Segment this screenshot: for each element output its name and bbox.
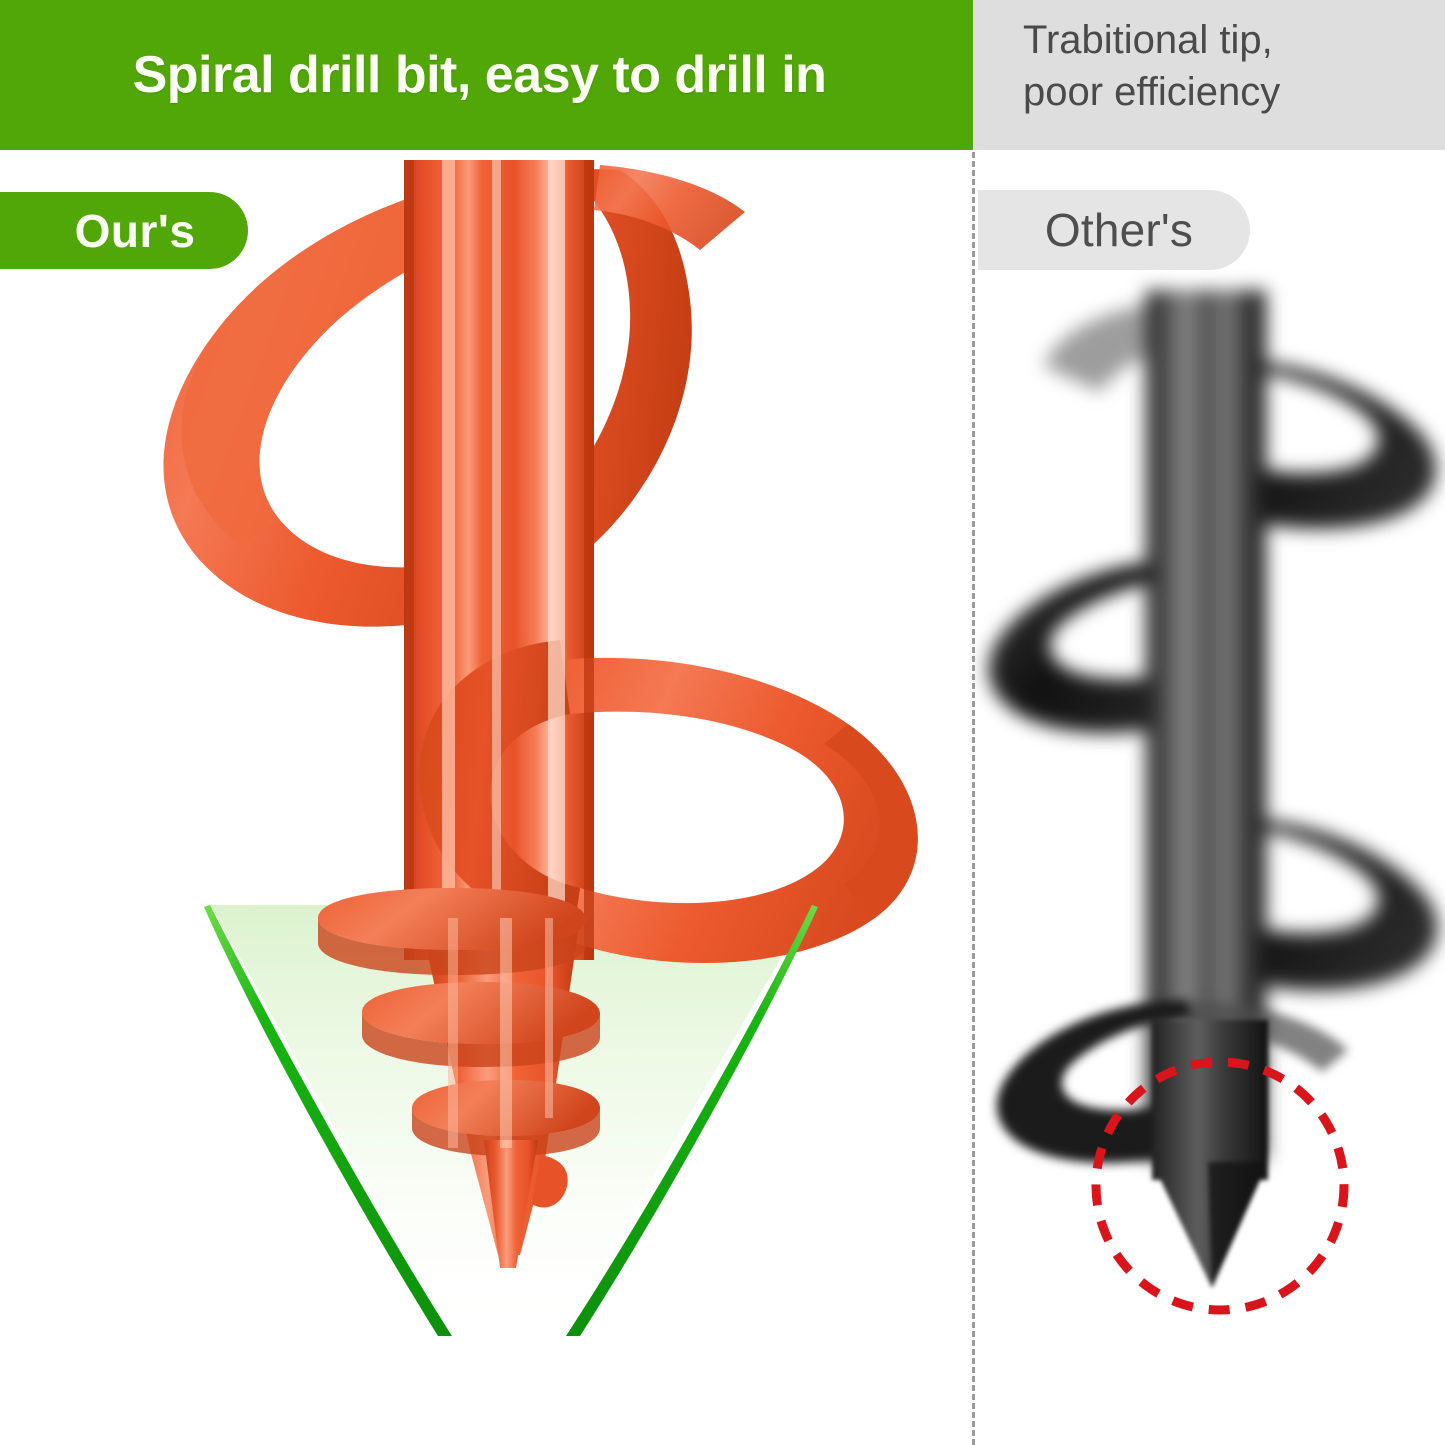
black-flight-top — [1044, 300, 1214, 392]
cone-rib-a — [448, 918, 458, 1148]
guide-line-left — [204, 905, 452, 1336]
screw-thread-3-shadow — [412, 1108, 600, 1156]
cone-rib-c — [545, 918, 553, 1118]
badge-others: Other's — [978, 190, 1250, 270]
panel-divider — [972, 152, 975, 1445]
auger-point — [484, 1140, 538, 1268]
auger-flight-lower-rim — [824, 724, 918, 920]
badge-ours-label: Our's — [75, 204, 196, 258]
shaft-edge-right — [584, 160, 594, 960]
shaft-highlight-b — [492, 160, 501, 960]
screw-thread-2 — [362, 982, 600, 1044]
black-shaft — [1146, 290, 1266, 1160]
auger-flight-top-right — [594, 165, 745, 250]
other-headline-line1: Trabitional tip, — [1023, 14, 1425, 66]
screw-thread-1 — [318, 888, 586, 950]
auger-flight-lower-back — [560, 658, 918, 963]
badge-others-label: Other's — [1045, 203, 1193, 257]
competitor-bottom-flight — [997, 1000, 1348, 1163]
auger-flight-lower-front — [419, 640, 580, 942]
tip-cone — [1152, 1162, 1268, 1288]
other-headline-banner: Trabitional tip, poor efficiency — [973, 0, 1445, 150]
tip-side-nub — [532, 1155, 568, 1208]
auger-flight-upper-front — [470, 168, 692, 612]
black-flight-bottom — [997, 1000, 1244, 1163]
guide-line-right — [566, 905, 818, 1336]
competitor-conical-tip — [1152, 1020, 1268, 1288]
black-flight-bottom-edge — [1186, 1000, 1348, 1072]
guide-cone-fill — [210, 905, 812, 1336]
competitor-auger-blurred — [989, 290, 1438, 1160]
screw-thread-1-shadow — [318, 918, 586, 975]
our-headline-text: Spiral drill bit, easy to drill in — [133, 45, 827, 105]
cone-rib-b — [500, 918, 512, 1148]
tip-cone-shadow — [1208, 1162, 1268, 1288]
orange-auger — [164, 160, 918, 1268]
shaft-highlight-a — [442, 160, 455, 960]
black-flight-3 — [1178, 818, 1438, 990]
comparison-infographic: Spiral drill bit, easy to drill in Trabi… — [0, 0, 1445, 1445]
black-flight-2 — [989, 560, 1248, 733]
screw-thread-2-shadow — [362, 1012, 600, 1067]
other-headline-line2: poor efficiency — [1023, 66, 1425, 118]
badge-ours: Our's — [0, 192, 248, 269]
shaft-edge-left — [404, 160, 414, 960]
auger-cone-tip — [420, 918, 580, 1255]
our-headline-banner: Spiral drill bit, easy to drill in — [0, 0, 973, 150]
auger-shaft — [404, 160, 594, 960]
red-dashed-highlight-circle — [1096, 1062, 1344, 1310]
black-flight-1 — [1178, 360, 1436, 529]
shaft-highlight-c — [548, 160, 565, 960]
tip-shank — [1152, 1020, 1268, 1180]
screw-thread-3 — [412, 1080, 600, 1136]
